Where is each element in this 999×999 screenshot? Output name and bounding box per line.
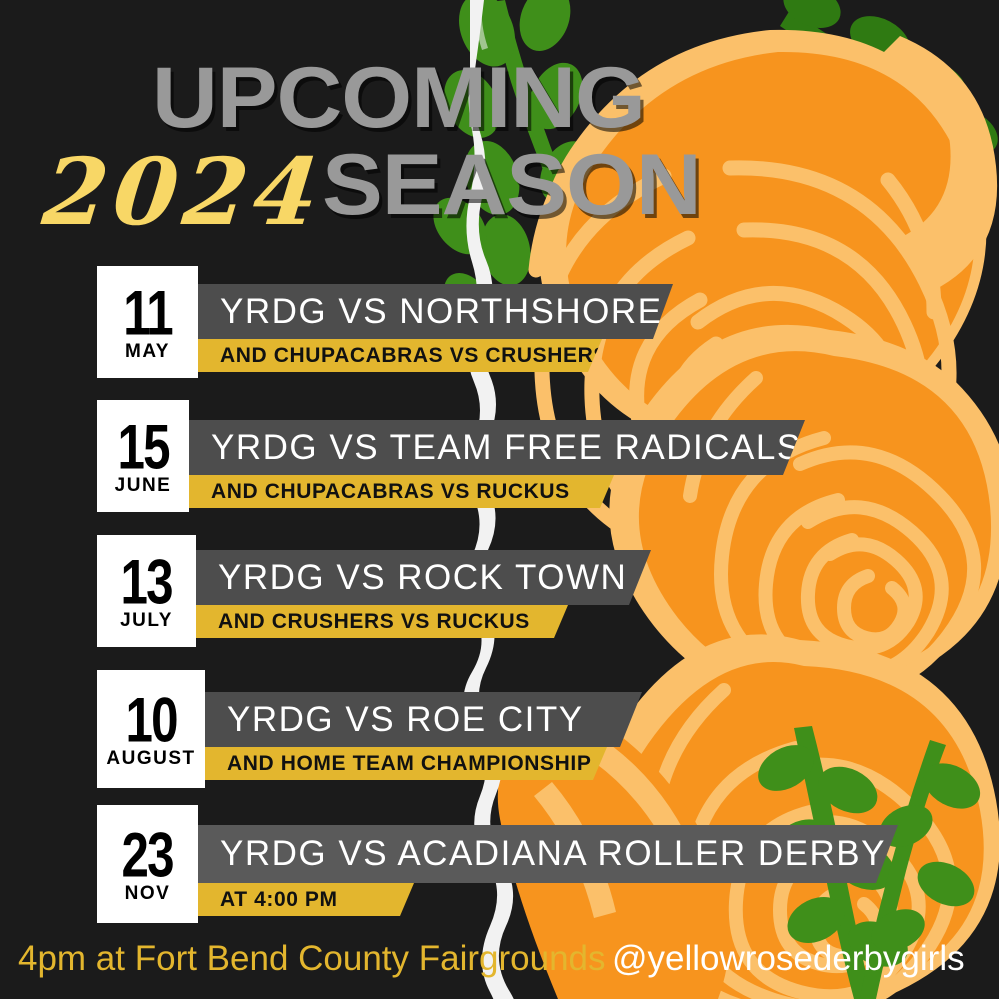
- poster-canvas: UPCOMING SEASON 2024 11 MAY YRDG VS NORT…: [0, 0, 999, 999]
- date-day: 11: [123, 284, 172, 342]
- event-subtitle-banner: AT 4:00 PM: [198, 883, 414, 916]
- social-handle[interactable]: @yellowrosederbygirls: [612, 939, 965, 979]
- event-title-banner: YRDG VS TEAM FREE RADICALS: [189, 420, 805, 475]
- event-title: YRDG VS ROE CITY: [227, 700, 584, 740]
- footer-bar: 4pm at Fort Bend County Fairgrounds @yel…: [0, 925, 999, 999]
- date-day: 23: [122, 826, 173, 884]
- event-subtitle: AND CHUPACABRAS VS CRUSHERS: [220, 344, 608, 368]
- event-subtitle: AT 4:00 PM: [220, 888, 338, 912]
- event-subtitle-banner: AND CHUPACABRAS VS RUCKUS: [189, 475, 614, 508]
- event-schedule-list: 11 MAY YRDG VS NORTHSHORE AND CHUPACABRA…: [0, 0, 999, 999]
- event-row: 13 JULY YRDG VS ROCK TOWN AND CRUSHERS V…: [97, 535, 697, 647]
- event-subtitle-banner: AND CHUPACABRAS VS CRUSHERS: [198, 339, 602, 372]
- event-subtitle: AND CHUPACABRAS VS RUCKUS: [211, 480, 570, 504]
- venue-text: 4pm at Fort Bend County Fairgrounds: [18, 939, 606, 979]
- event-title: YRDG VS NORTHSHORE: [220, 292, 663, 332]
- event-title-banner: YRDG VS ROE CITY: [205, 692, 642, 747]
- event-title: YRDG VS ACADIANA ROLLER DERBY: [220, 834, 886, 874]
- event-row: 15 JUNE YRDG VS TEAM FREE RADICALS AND C…: [97, 400, 817, 512]
- event-subtitle: AND CRUSHERS VS RUCKUS: [218, 610, 530, 634]
- event-row: 11 MAY YRDG VS NORTHSHORE AND CHUPACABRA…: [97, 266, 717, 378]
- date-card: 11 MAY: [97, 266, 198, 378]
- event-title-banner: YRDG VS ROCK TOWN: [196, 550, 651, 605]
- date-card: 15 JUNE: [97, 400, 189, 512]
- event-title-banner: YRDG VS NORTHSHORE: [198, 284, 673, 339]
- event-title: YRDG VS ROCK TOWN: [218, 558, 627, 598]
- event-subtitle-banner: AND CRUSHERS VS RUCKUS: [196, 605, 568, 638]
- date-day: 13: [121, 553, 172, 611]
- date-card: 23 NOV: [97, 805, 198, 923]
- event-title: YRDG VS TEAM FREE RADICALS: [211, 428, 802, 468]
- event-title-banner: YRDG VS ACADIANA ROLLER DERBY: [198, 825, 898, 883]
- event-subtitle: AND HOME TEAM CHAMPIONSHIP: [227, 752, 591, 776]
- date-card: 10 AUGUST: [97, 670, 205, 788]
- event-row: 23 NOV YRDG VS ACADIANA ROLLER DERBY AT …: [97, 805, 907, 923]
- event-row: 10 AUGUST YRDG VS ROE CITY AND HOME TEAM…: [97, 670, 697, 788]
- event-subtitle-banner: AND HOME TEAM CHAMPIONSHIP: [205, 747, 607, 780]
- date-day: 15: [117, 418, 168, 476]
- date-card: 13 JULY: [97, 535, 196, 647]
- date-day: 10: [125, 691, 176, 749]
